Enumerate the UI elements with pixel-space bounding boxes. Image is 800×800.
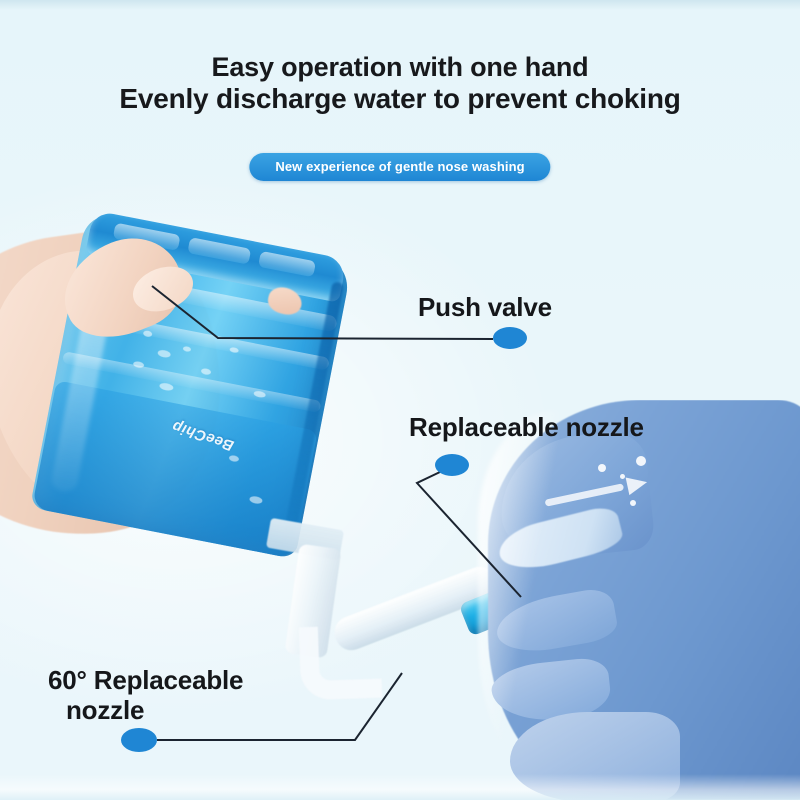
headline: Easy operation with one hand Evenly disc… [0, 52, 800, 114]
product-marketing-image: BeeChip [0, 0, 800, 800]
callout-label-replaceable-nozzle: Replaceable nozzle [409, 412, 644, 442]
cap-slot [258, 251, 316, 277]
callout-label-line2: nozzle [66, 695, 144, 725]
tagline-badge: New experience of gentle nose washing [249, 153, 550, 181]
bottom-light-strip [0, 774, 800, 800]
callout-label-sixty-degree-nozzle: 60° Replaceable nozzle [48, 665, 378, 725]
spray-droplet [598, 464, 606, 472]
spray-droplet [620, 474, 625, 479]
headline-line-1: Easy operation with one hand [0, 52, 800, 83]
spray-droplet [630, 500, 636, 506]
spray-droplet [636, 456, 646, 466]
face-rim-light [478, 410, 638, 790]
callout-label-push-valve: Push valve [418, 292, 552, 322]
face-profile [470, 400, 800, 800]
headline-line-2: Evenly discharge water to prevent chokin… [0, 83, 800, 114]
callout-label-line1: 60° Replaceable [48, 665, 243, 695]
cap-slot [187, 237, 251, 265]
